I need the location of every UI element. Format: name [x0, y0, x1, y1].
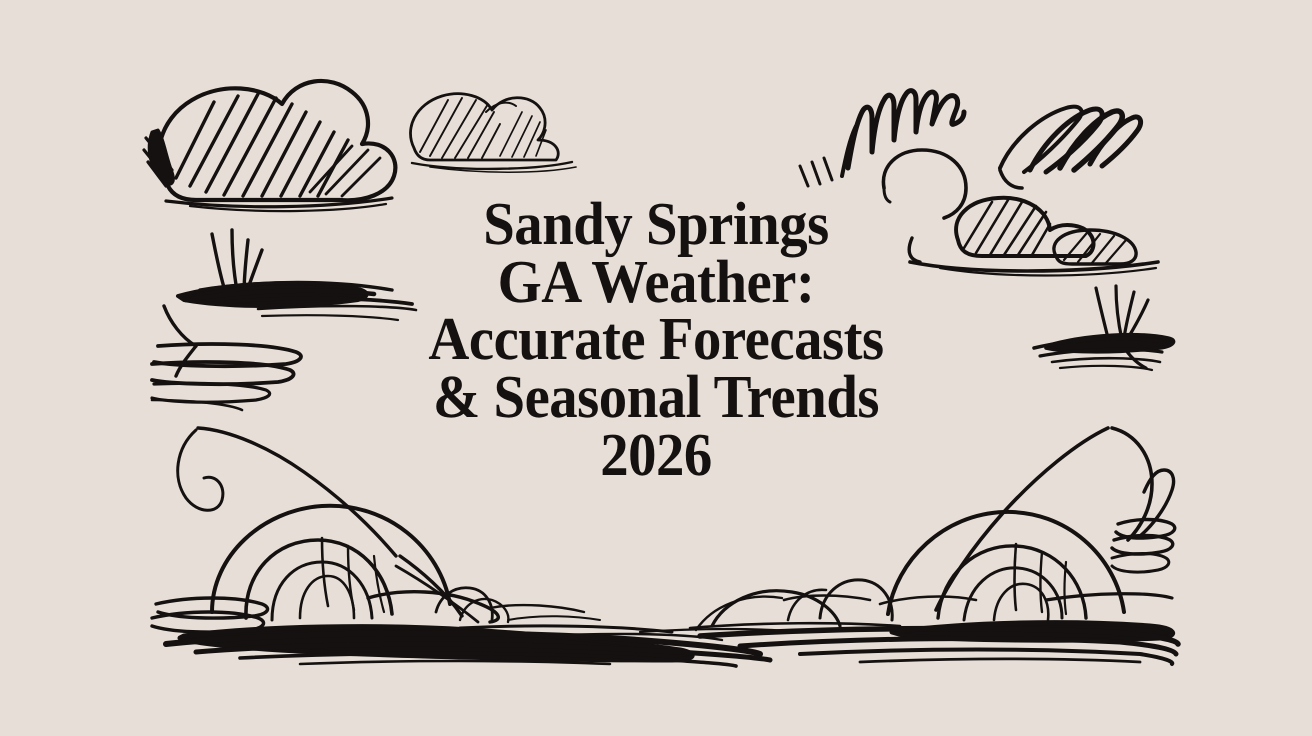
page-title: Sandy Springs GA Weather: Accurate Forec…	[326, 196, 986, 484]
scribble-strokes-right	[1000, 107, 1141, 188]
scribble-zigzag-top-right	[842, 91, 964, 176]
ground-scribble-bottom-right	[640, 520, 1178, 665]
hatched-cloud-large-top-left	[144, 81, 395, 211]
rain-ticks-top-right	[800, 158, 832, 186]
title-line-5: 2026	[349, 427, 963, 485]
hatched-cloud-top-center	[410, 94, 576, 173]
title-line-3: Accurate Forecasts	[349, 311, 963, 369]
grass-tuft-right	[1034, 286, 1174, 370]
weather-banner: Sandy Springs GA Weather: Accurate Forec…	[0, 0, 1312, 736]
title-line-1: Sandy Springs	[349, 196, 963, 254]
title-line-4: & Seasonal Trends	[349, 369, 963, 427]
title-line-2: GA Weather:	[349, 254, 963, 312]
scribble-lines-left	[152, 306, 301, 410]
ground-scribble-bottom-left	[152, 598, 770, 666]
